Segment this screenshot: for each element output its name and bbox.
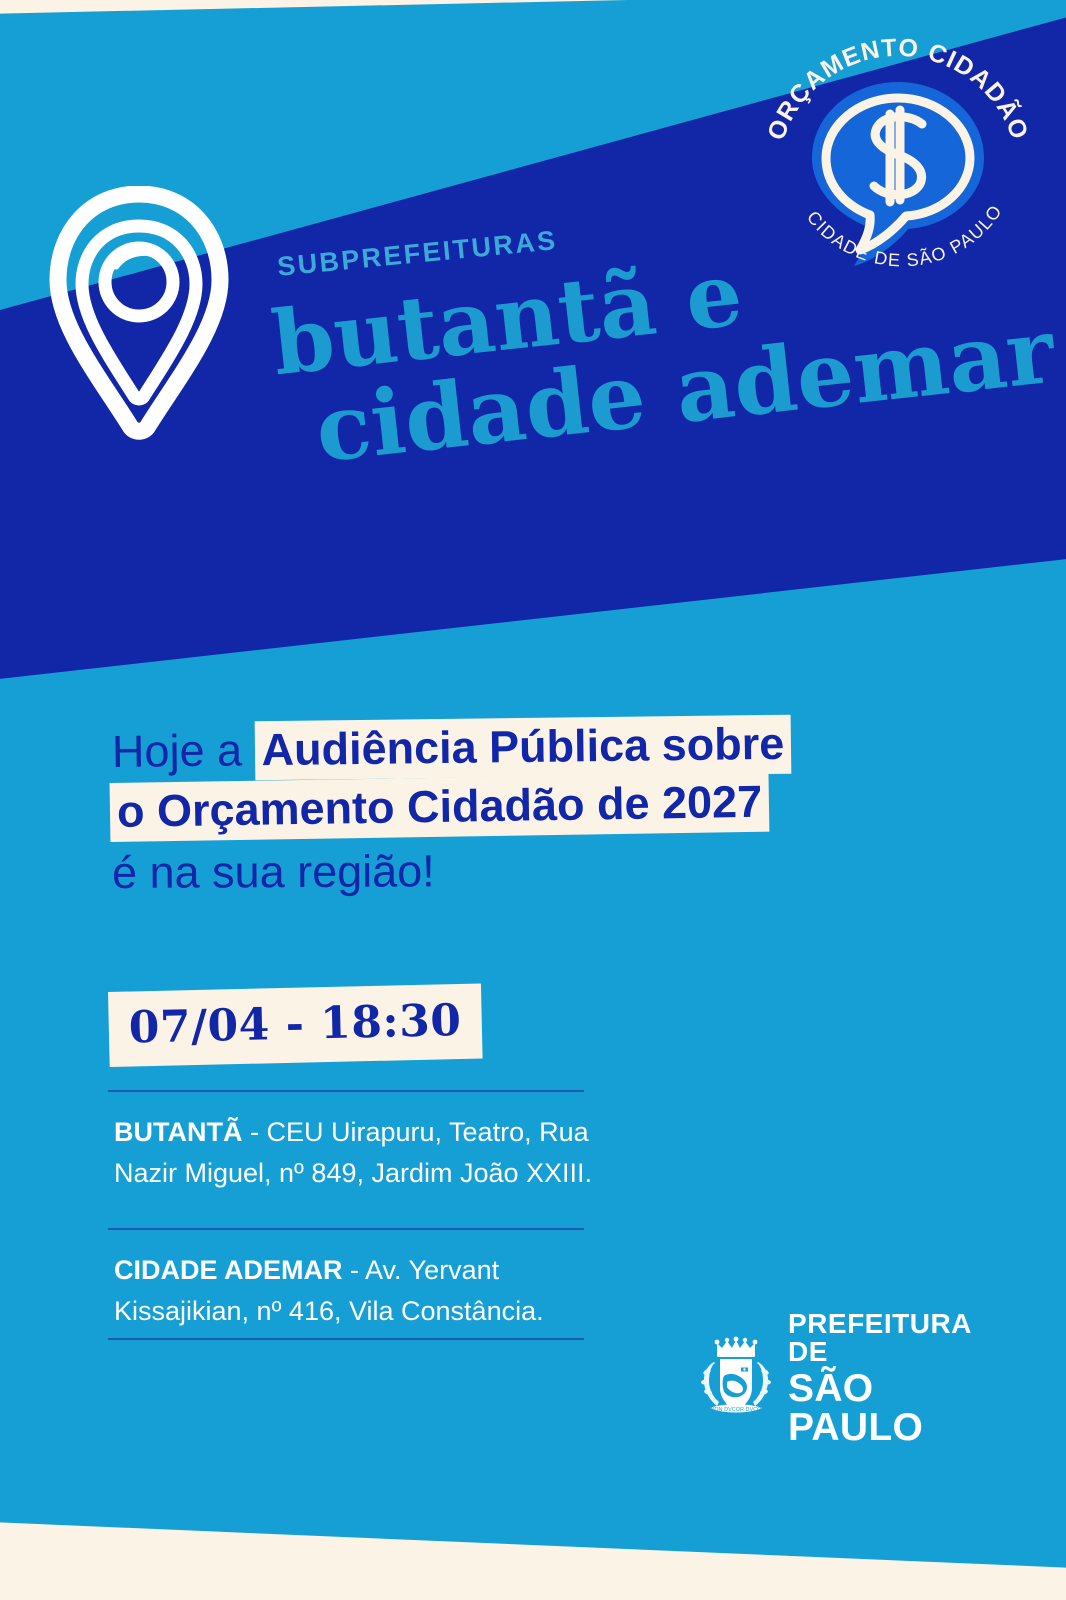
prefeitura-sao-paulo-logo: NON DVCOR DVCO PREFEITURA DE SÃO PAULO — [698, 1335, 970, 1421]
poster-root: SUBPREFEITURAS butantã e cidade ademar — [0, 0, 1066, 1600]
prefeitura-line-2: SÃO PAULO — [788, 1369, 971, 1447]
address-butanta: BUTANTÃ - CEU Uirapuru, Teatro, Rua Nazi… — [114, 1112, 614, 1193]
date-time-badge: 07/04 - 18:30 — [108, 984, 482, 1067]
prefeitura-wordmark: PREFEITURA DE SÃO PAULO — [788, 1310, 971, 1447]
coat-of-arms-icon: NON DVCOR DVCO — [698, 1336, 774, 1420]
headline-line-3: é na sua região! — [112, 838, 972, 903]
headline-plain-1: Hoje a — [112, 724, 255, 777]
headline-line-2: o Orçamento Cidadão de 2027 — [110, 769, 973, 843]
address-cidade-ademar-name: CIDADE ADEMAR — [114, 1255, 343, 1285]
address-butanta-name: BUTANTÃ — [114, 1117, 242, 1147]
headline-plain-3: é na sua região! — [112, 845, 435, 898]
headline: Hoje a Audiência Pública sobre o Orçamen… — [112, 722, 972, 903]
divider-top — [108, 1090, 584, 1092]
main-content: Hoje a Audiência Pública sobre o Orçamen… — [0, 680, 1066, 1600]
divider-bottom — [108, 1338, 584, 1340]
divider-middle — [108, 1228, 584, 1230]
coat-of-arms-motto: NON DVCOR DVCO — [711, 1407, 762, 1413]
address-cidade-ademar: CIDADE ADEMAR - Av. Yervant Kissajikian,… — [114, 1250, 614, 1331]
orcamento-cidadao-logo: ORÇAMENTO CIDADÃO CIDADE DE SÃO PAULO — [752, 18, 1044, 310]
headline-strong-1: Audiência Pública sobre — [254, 715, 791, 781]
headline-strong-2: o Orçamento Cidadão de 2027 — [110, 773, 770, 842]
prefeitura-line-1: PREFEITURA DE — [788, 1310, 971, 1366]
map-pin-icon — [44, 186, 234, 446]
